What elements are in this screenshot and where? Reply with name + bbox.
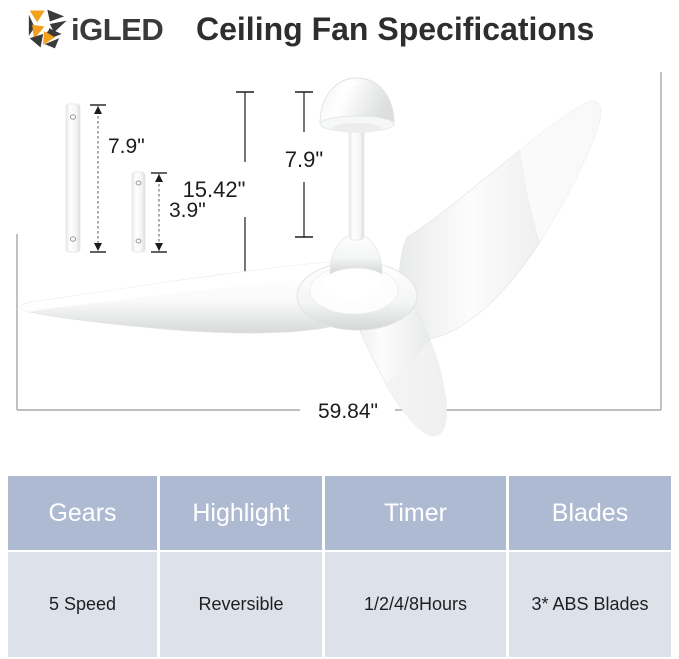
page-header: iGLED Ceiling Fan Specifications <box>0 0 679 62</box>
aperture-logo-icon <box>28 8 70 50</box>
dimension-label-downrod-short: 3.9" <box>169 199 206 222</box>
dimension-label-blade-span: 59.84" <box>318 400 378 423</box>
dimension-label-canopy-to-motor: 7.9" <box>285 147 323 172</box>
ceiling-canopy <box>320 78 394 133</box>
table-header-timer: Timer <box>325 476 509 552</box>
motor-housing <box>297 262 417 330</box>
dimension-label-downrod-long: 7.9" <box>108 135 145 158</box>
table-cell-blades: 3* ABS Blades <box>509 552 671 657</box>
dimension-canopy-to-motor: 7.9" <box>285 92 323 237</box>
table-header-gears: Gears <box>8 476 160 552</box>
brand-logo: iGLED <box>28 8 188 50</box>
downrod-accessory-short <box>132 172 145 252</box>
fan-blade-upper-right <box>399 101 601 339</box>
table-row: 5 Speed Reversible 1/2/4/8Hours 3* ABS B… <box>8 552 671 657</box>
page-title: Ceiling Fan Specifications <box>196 8 594 50</box>
specifications-table: Gears Highlight Timer Blades 5 Speed Rev… <box>8 476 671 657</box>
brand-wordmark: iGLED <box>71 14 163 45</box>
table-header-row: Gears Highlight Timer Blades <box>8 476 671 552</box>
ceiling-fan-dimension-diagram: 59.84" 7.9" 3.9" <box>0 62 679 460</box>
dimension-label-total-height: 15.42" <box>183 177 246 202</box>
table-cell-timer: 1/2/4/8Hours <box>325 552 509 657</box>
table-header-highlight: Highlight <box>160 476 325 552</box>
table-cell-highlight: Reversible <box>160 552 325 657</box>
dimension-total-height: 15.42" <box>183 92 254 297</box>
downrod <box>349 124 364 240</box>
table-header-blades: Blades <box>509 476 671 552</box>
table-cell-gears: 5 Speed <box>8 552 160 657</box>
downrod-accessory-long <box>66 104 80 252</box>
